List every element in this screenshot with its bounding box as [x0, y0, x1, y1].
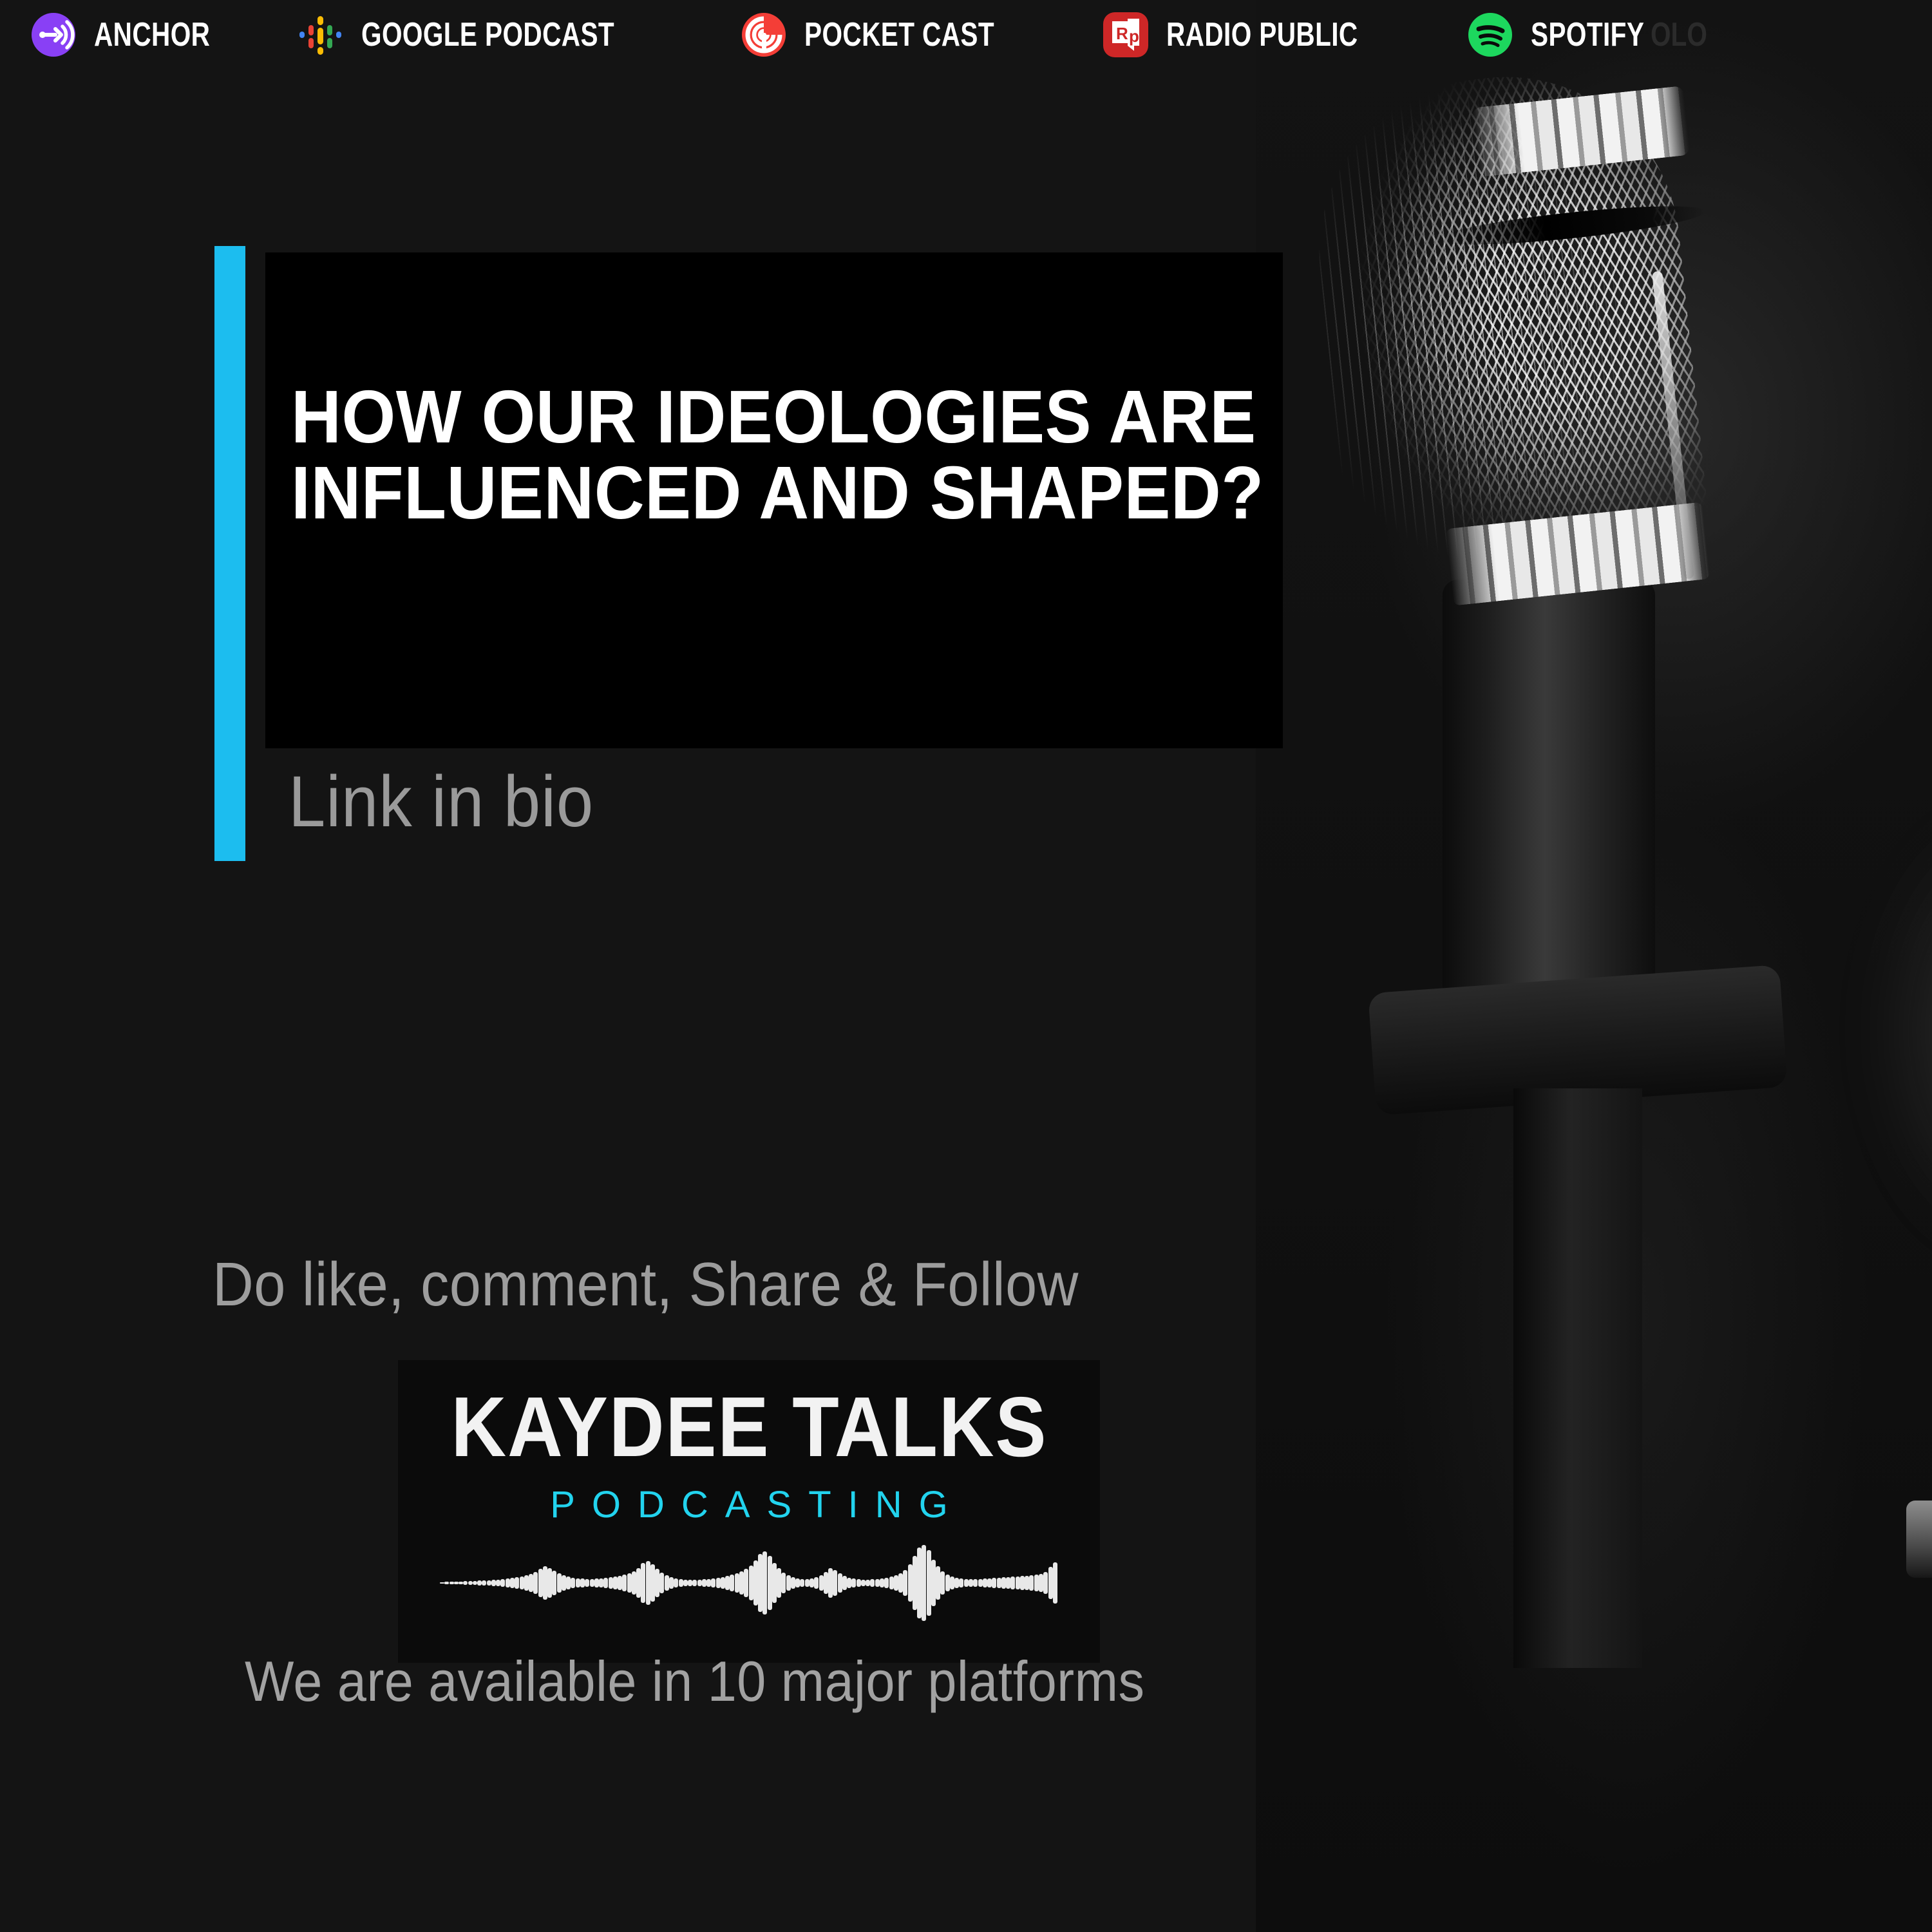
mic-mount-knob — [1906, 1501, 1932, 1578]
waveform-bar — [576, 1578, 580, 1588]
waveform-bar — [894, 1575, 898, 1591]
waveform-bar — [851, 1578, 856, 1587]
waveform-bar — [758, 1554, 762, 1612]
waveform-bar — [665, 1575, 669, 1591]
waveform-bar — [969, 1579, 973, 1587]
waveform-bar — [847, 1578, 851, 1589]
mic-stand-stem — [1513, 1088, 1642, 1668]
waveform-bar — [800, 1579, 804, 1587]
waveform-bar — [632, 1571, 636, 1594]
mic-body — [1443, 580, 1655, 1030]
anchor-icon — [30, 11, 77, 59]
waveform-bar — [983, 1578, 987, 1587]
headline-line-2: INFLUENCED AND SHAPED? — [291, 455, 1189, 531]
waveform-bar — [543, 1566, 547, 1599]
podcast-promo-canvas: ANCHOR GOOGLE PODCAST — [0, 0, 1932, 1932]
waveform-bar — [945, 1575, 950, 1591]
waveform-bar — [762, 1551, 767, 1615]
cta-text: Do like, comment, Share & Follow — [213, 1249, 1079, 1320]
waveform-bar — [538, 1569, 543, 1596]
waveform-bar — [875, 1579, 880, 1587]
platform-item-spotify[interactable]: SPOTIFY OLO — [1466, 11, 1723, 59]
waveform-bar — [828, 1568, 833, 1597]
waveform-bar — [842, 1576, 847, 1590]
waveform-bar — [618, 1576, 622, 1590]
waveform-bar — [1029, 1575, 1034, 1591]
waveform-bar — [898, 1573, 903, 1593]
waveform-bar — [791, 1577, 795, 1589]
waveform-bar — [524, 1575, 529, 1591]
waveform-bar — [744, 1569, 748, 1596]
waveform-bar — [580, 1578, 585, 1587]
google-podcast-icon — [297, 11, 345, 59]
waveform-bar — [646, 1561, 650, 1605]
waveform-bar — [674, 1578, 678, 1587]
headline-line-1: HOW OUR IDEOLOGIES ARE — [291, 379, 1189, 455]
waveform-bar — [1016, 1577, 1020, 1590]
brand-subtitle: PODCASTING — [533, 1486, 965, 1524]
waveform-bar — [1025, 1576, 1029, 1591]
waveform-bar — [795, 1578, 800, 1588]
waveform-bar — [609, 1577, 613, 1589]
waveform-bar — [903, 1570, 907, 1595]
waveform-bar — [987, 1578, 992, 1588]
waveform-bar — [688, 1580, 692, 1586]
platform-item-pocket-cast[interactable]: POCKET CAST — [740, 11, 1048, 59]
audio-waveform-icon — [440, 1544, 1058, 1622]
platform-label-radio-public: RADIO PUBLIC — [1166, 15, 1358, 54]
waveform-bar — [772, 1563, 777, 1604]
waveform-bar — [463, 1581, 468, 1585]
waveform-bar — [659, 1573, 664, 1593]
waveform-bar — [613, 1577, 618, 1589]
spotify-icon — [1466, 11, 1514, 59]
waveform-bar — [880, 1578, 884, 1588]
waveform-bar — [487, 1580, 491, 1586]
waveform-bar — [735, 1573, 739, 1593]
availability-text: We are available in 10 major platforms — [245, 1649, 1144, 1714]
headline-box: HOW OUR IDEOLOGIES ARE INFLUENCED AND SH… — [265, 252, 1283, 748]
waveform-bar — [450, 1582, 454, 1584]
waveform-bar — [964, 1579, 969, 1587]
waveform-bar — [819, 1575, 824, 1591]
waveform-bar — [954, 1578, 959, 1588]
waveform-bar — [936, 1566, 940, 1599]
waveform-bar — [491, 1580, 496, 1586]
waveform-bar — [721, 1577, 725, 1589]
waveform-bar — [552, 1571, 556, 1595]
waveform-bar — [594, 1578, 599, 1587]
waveform-bar — [669, 1577, 674, 1589]
waveform-bar — [482, 1580, 486, 1586]
pocket-cast-icon — [740, 11, 788, 59]
waveform-bar — [1006, 1577, 1010, 1589]
waveform-bar — [810, 1578, 814, 1588]
waveform-bar — [697, 1580, 702, 1587]
waveform-bar — [1039, 1574, 1043, 1592]
waveform-bar — [1048, 1567, 1053, 1598]
waveform-bar — [515, 1577, 519, 1589]
svg-text:R: R — [1116, 24, 1128, 43]
waveform-bar — [473, 1581, 477, 1586]
waveform-bar — [866, 1580, 870, 1587]
waveform-bar — [857, 1579, 861, 1587]
waveform-bar — [655, 1569, 659, 1596]
waveform-bar — [459, 1582, 463, 1585]
waveform-bar — [636, 1568, 641, 1597]
waveform-bar — [683, 1580, 688, 1587]
platform-item-radio-public[interactable]: R p RADIO PUBLIC — [1102, 11, 1412, 59]
waveform-bar — [959, 1578, 963, 1587]
waveform-bar — [585, 1579, 589, 1587]
waveform-bar — [1010, 1577, 1015, 1589]
waveform-bar — [500, 1579, 505, 1587]
waveform-bar — [884, 1578, 889, 1589]
waveform-bar — [692, 1580, 697, 1586]
waveform-bar — [506, 1578, 510, 1587]
waveform-bar — [529, 1574, 533, 1592]
waveform-bar — [777, 1568, 781, 1597]
waveform-bar — [1034, 1575, 1039, 1591]
waveform-bar — [913, 1556, 917, 1611]
waveform-bar — [861, 1580, 866, 1587]
link-in-bio-text[interactable]: Link in bio — [289, 760, 594, 843]
waveform-bar — [547, 1568, 552, 1597]
waveform-bar — [725, 1576, 730, 1590]
waveform-bar — [454, 1582, 459, 1585]
waveform-bar — [562, 1575, 566, 1591]
waveform-bar — [814, 1577, 819, 1589]
waveform-bar — [978, 1579, 983, 1587]
accent-bar — [214, 246, 245, 861]
waveform-bar — [571, 1578, 575, 1589]
waveform-bar — [599, 1578, 603, 1588]
waveform-bar — [786, 1575, 791, 1591]
waveform-bar — [940, 1571, 945, 1594]
waveform-bar — [950, 1577, 954, 1589]
platform-label-pocket-cast: POCKET CAST — [804, 15, 994, 54]
waveform-bar — [533, 1572, 538, 1593]
page-title: HOW OUR IDEOLOGIES ARE INFLUENCED AND SH… — [291, 379, 1257, 531]
waveform-bar — [557, 1573, 562, 1593]
waveform-bar — [716, 1578, 721, 1589]
waveform-bar — [679, 1579, 683, 1587]
brand-logo-card: KAYDEE TALKS PODCASTING — [398, 1360, 1100, 1663]
waveform-bar — [468, 1581, 473, 1585]
waveform-bar — [973, 1579, 978, 1587]
brand-name: KAYDEE TALKS — [451, 1385, 1047, 1470]
waveform-bar — [590, 1579, 594, 1587]
waveform-bar — [931, 1560, 936, 1607]
waveform-bar — [496, 1580, 500, 1587]
waveform-bar — [444, 1582, 449, 1584]
waveform-bar — [838, 1573, 842, 1593]
waveform-bar — [702, 1579, 706, 1587]
waveform-bar — [440, 1582, 444, 1584]
microphone-photo — [1256, 0, 1932, 1932]
mic-glow — [1868, 805, 1932, 1256]
waveform-bar — [1053, 1562, 1057, 1604]
waveform-bar — [627, 1573, 632, 1593]
waveform-bar — [824, 1572, 828, 1593]
waveform-bar — [566, 1577, 571, 1589]
waveform-bar — [927, 1550, 931, 1616]
radio-public-icon: R p — [1102, 11, 1150, 59]
waveform-bar — [908, 1564, 913, 1601]
waveform-bar — [997, 1578, 1001, 1589]
waveform-bar — [1043, 1572, 1048, 1593]
waveform-bar — [992, 1578, 996, 1588]
waveform-bar — [833, 1570, 837, 1595]
waveform-bar — [477, 1580, 482, 1586]
waveform-bar — [1020, 1576, 1025, 1590]
waveform-bar — [753, 1560, 758, 1606]
platform-item-google-podcast[interactable]: GOOGLE PODCAST — [297, 11, 686, 59]
waveform-bar — [917, 1548, 922, 1618]
platform-label-ghost: OLO — [1651, 15, 1707, 54]
svg-text:p: p — [1129, 26, 1139, 46]
waveform-bar — [641, 1563, 645, 1604]
waveform-bar — [706, 1579, 711, 1587]
waveform-bar — [510, 1578, 515, 1588]
platform-label-anchor: ANCHOR — [94, 15, 210, 54]
waveform-bar — [870, 1579, 875, 1587]
platform-label-spotify: SPOTIFY — [1531, 15, 1644, 54]
waveform-bar — [805, 1579, 810, 1587]
waveform-bar — [603, 1578, 608, 1588]
waveform-bar — [1001, 1577, 1006, 1589]
waveform-bar — [711, 1578, 715, 1588]
waveform-bar — [730, 1575, 734, 1591]
waveform-bar — [922, 1545, 926, 1621]
waveform-bar — [520, 1577, 524, 1589]
waveform-bar — [889, 1577, 894, 1589]
platform-label-google-podcast: GOOGLE PODCAST — [361, 15, 614, 54]
platform-marquee: ANCHOR GOOGLE PODCAST — [0, 0, 1932, 70]
platform-item-anchor[interactable]: ANCHOR — [30, 11, 243, 59]
waveform-bar — [622, 1575, 627, 1591]
waveform-bar — [781, 1573, 786, 1593]
waveform-bar — [650, 1564, 655, 1601]
waveform-bar — [739, 1571, 744, 1594]
waveform-bar — [749, 1566, 753, 1600]
waveform-bar — [768, 1556, 772, 1611]
